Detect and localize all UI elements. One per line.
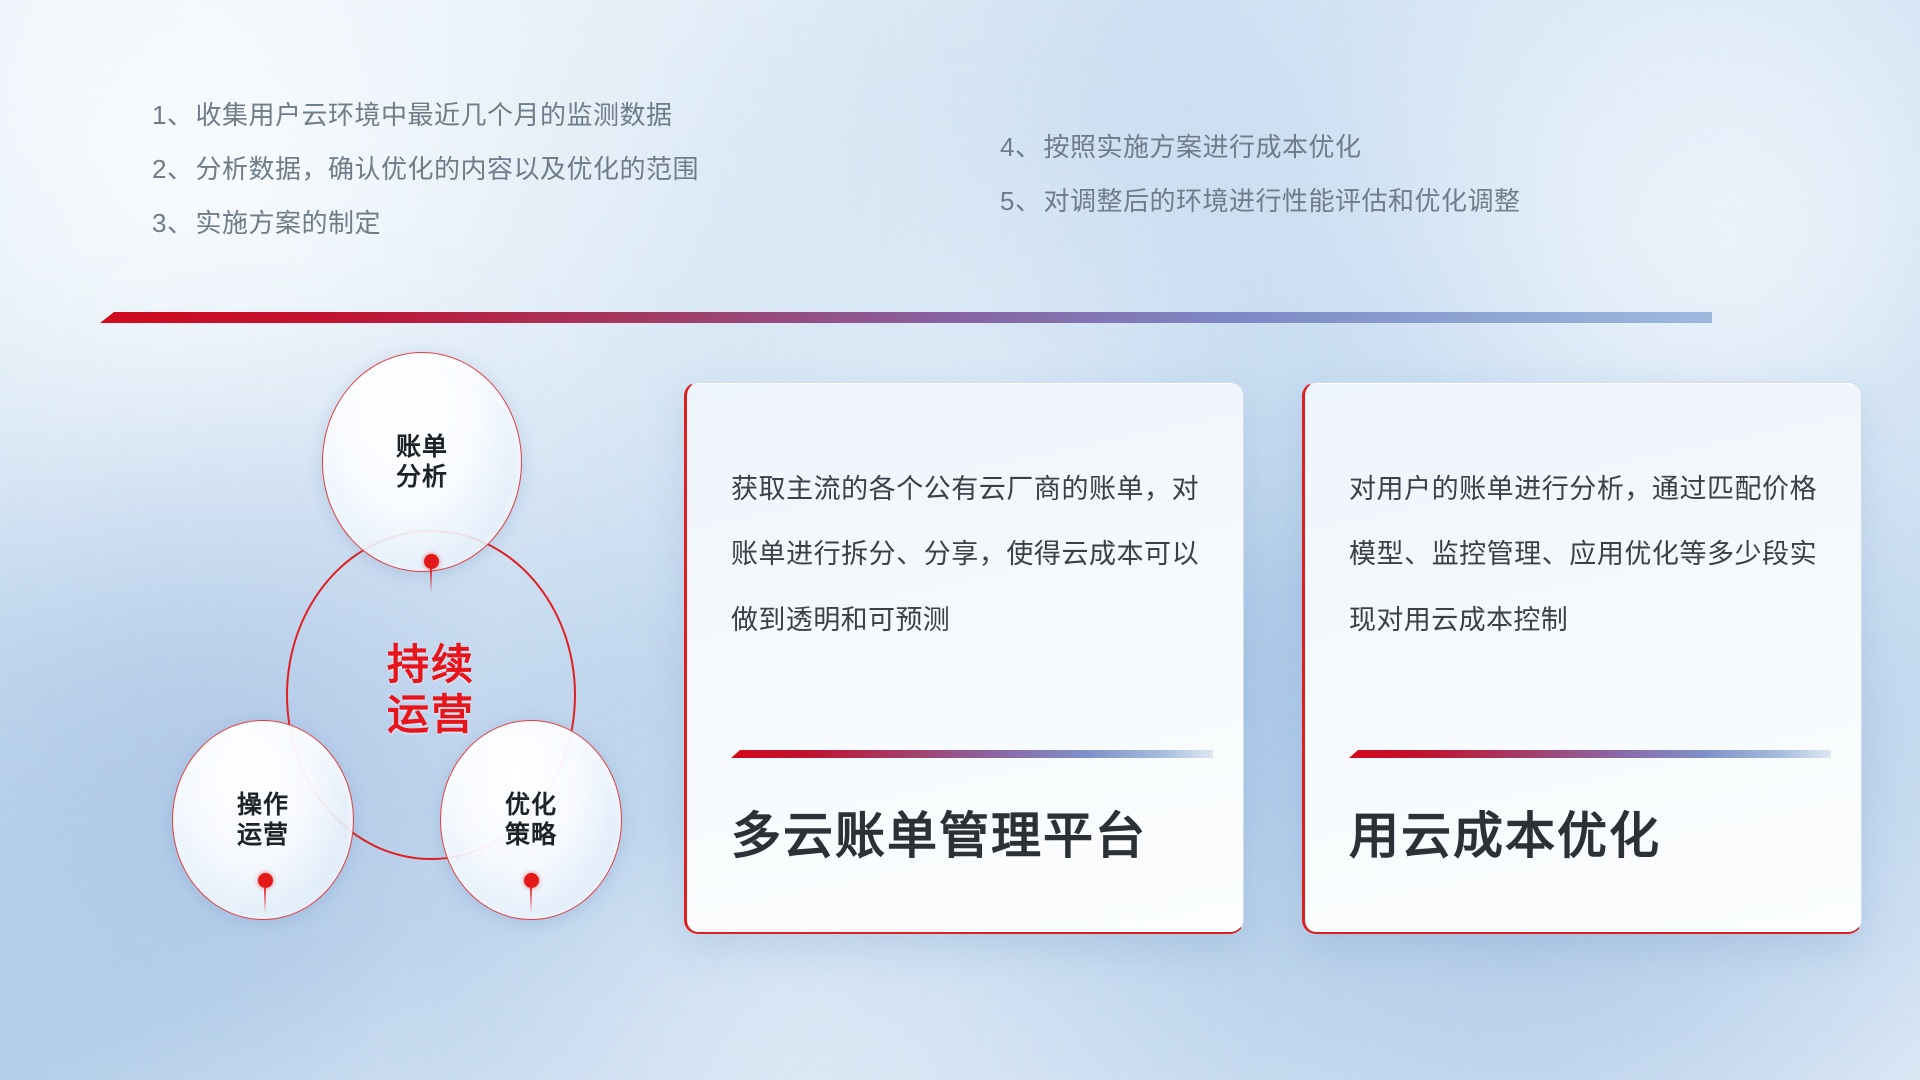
- connector-dot-right: [524, 873, 539, 888]
- diagram-node-bill-analysis[interactable]: 账单 分析: [322, 352, 522, 572]
- connector-tail-right: [530, 885, 532, 913]
- step-item: 1、 收集用户云环境中最近几个月的监测数据: [152, 88, 699, 142]
- card-description: 对用户的账单进行分析，通过匹配价格模型、监控管理、应用优化等多少段实现对用云成本…: [1349, 457, 1817, 653]
- feature-card-cost-optimization[interactable]: 对用户的账单进行分析，通过匹配价格模型、监控管理、应用优化等多少段实现对用云成本…: [1302, 382, 1862, 934]
- node-label-line2: 策略: [505, 820, 557, 851]
- step-text: 收集用户云环境中最近几个月的监测数据: [195, 88, 672, 142]
- card-divider: [1349, 750, 1831, 758]
- step-text: 对调整后的环境进行性能评估和优化调整: [1043, 174, 1520, 228]
- card-title: 用云成本优化: [1349, 796, 1817, 868]
- step-text: 实施方案的制定: [195, 196, 381, 250]
- card-divider: [731, 750, 1213, 758]
- node-label-line1: 操作: [237, 790, 289, 821]
- node-label-line2: 运营: [237, 820, 289, 851]
- connector-tail-left: [264, 885, 266, 913]
- step-item: 2、 分析数据，确认优化的内容以及优化的范围: [152, 142, 699, 196]
- feature-cards: 获取主流的各个公有云厂商的账单，对账单进行拆分、分享，使得云成本可以做到透明和可…: [684, 382, 1864, 952]
- step-number: 5、: [1000, 174, 1041, 228]
- step-item: 3、 实施方案的制定: [152, 196, 699, 250]
- step-number: 3、: [152, 196, 193, 250]
- continuous-operation-diagram: 持续 运营 账单 分析 操作 运营 优化 策略: [98, 352, 618, 912]
- card-title: 多云账单管理平台: [731, 796, 1199, 868]
- step-number: 1、: [152, 88, 193, 142]
- connector-tail-top: [430, 566, 432, 594]
- connector-dot-left: [258, 873, 273, 888]
- center-label-line1: 持续: [320, 640, 542, 690]
- step-item: 4、 按照实施方案进行成本优化: [1000, 120, 1520, 174]
- node-label-line1: 账单: [396, 432, 448, 463]
- connector-dot-top: [424, 554, 439, 569]
- steps-left-column: 1、 收集用户云环境中最近几个月的监测数据 2、 分析数据，确认优化的内容以及优…: [152, 88, 699, 250]
- section-divider: [100, 312, 1712, 323]
- steps-right-column: 4、 按照实施方案进行成本优化 5、 对调整后的环境进行性能评估和优化调整: [1000, 120, 1520, 228]
- node-label-line1: 优化: [505, 790, 557, 821]
- step-number: 4、: [1000, 120, 1041, 174]
- step-number: 2、: [152, 142, 193, 196]
- step-text: 按照实施方案进行成本优化: [1043, 120, 1361, 174]
- step-item: 5、 对调整后的环境进行性能评估和优化调整: [1000, 174, 1520, 228]
- diagram-node-operations[interactable]: 操作 运营: [172, 720, 354, 920]
- feature-card-multicloud-billing[interactable]: 获取主流的各个公有云厂商的账单，对账单进行拆分、分享，使得云成本可以做到透明和可…: [684, 382, 1244, 934]
- card-description: 获取主流的各个公有云厂商的账单，对账单进行拆分、分享，使得云成本可以做到透明和可…: [731, 457, 1199, 653]
- section-divider-bar: [100, 312, 1712, 323]
- step-text: 分析数据，确认优化的内容以及优化的范围: [195, 142, 699, 196]
- steps-section: 1、 收集用户云环境中最近几个月的监测数据 2、 分析数据，确认优化的内容以及优…: [0, 88, 1920, 248]
- node-label-line2: 分析: [396, 462, 448, 493]
